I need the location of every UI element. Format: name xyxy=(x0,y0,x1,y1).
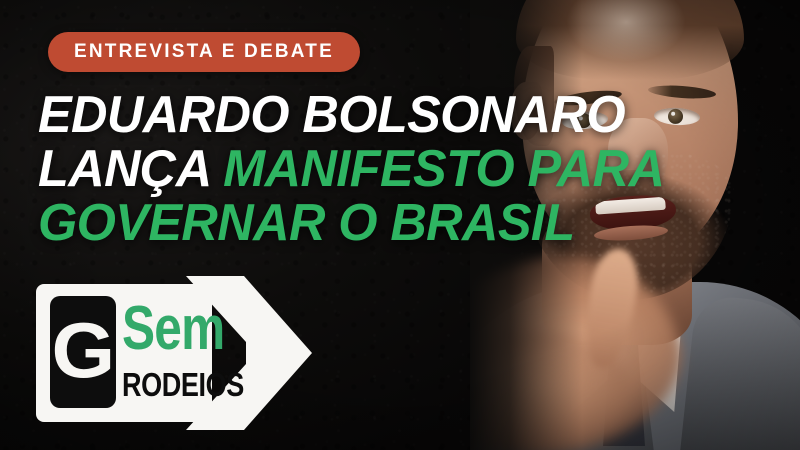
category-badge: ENTREVISTA E DEBATE xyxy=(48,32,360,72)
video-thumbnail: ENTREVISTA E DEBATE EDUARDO BOLSONARO LA… xyxy=(0,0,800,450)
headline-block: EDUARDO BOLSONARO LANÇA MANIFESTO PARA G… xyxy=(38,88,618,250)
headline-line-2-green: MANIFESTO PARA xyxy=(223,140,664,198)
headline-line-1: EDUARDO BOLSONARO xyxy=(38,88,601,142)
channel-logo: G Sem RODEIOS xyxy=(36,284,212,422)
logo-mark-letter: G xyxy=(51,311,115,389)
headline-line-3: GOVERNAR O BRASIL xyxy=(38,196,601,250)
logo-mark-g: G xyxy=(50,296,116,408)
logo-word-rodeios: RODEIOS xyxy=(122,368,244,401)
logo-word-sem: Sem xyxy=(122,298,224,360)
headline-line-2: LANÇA MANIFESTO PARA xyxy=(38,142,601,196)
headline-line-2-white: LANÇA xyxy=(38,140,223,198)
category-badge-label: ENTREVISTA E DEBATE xyxy=(74,41,334,63)
